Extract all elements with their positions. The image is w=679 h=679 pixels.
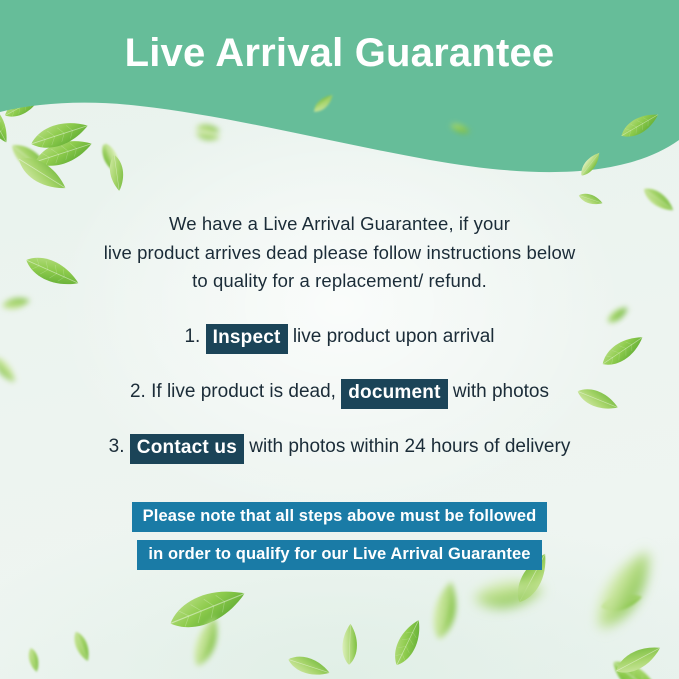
notice-banner: Please note that all steps above must be…	[0, 502, 679, 570]
step-1-number: 1.	[184, 326, 200, 347]
intro-line-2: live product arrives dead please follow …	[0, 239, 679, 268]
step-1-highlight: Inspect	[206, 324, 288, 354]
step-2-highlight: document	[341, 379, 447, 409]
intro-line-1: We have a Live Arrival Guarantee, if you…	[0, 210, 679, 239]
step-3-highlight: Contact us	[130, 434, 244, 464]
step-3-after: with photos within 24 hours of delivery	[249, 436, 570, 457]
step-3-number: 3.	[109, 436, 125, 457]
live-arrival-guarantee-poster: Live Arrival Guarantee	[0, 0, 679, 679]
intro-line-3: to quality for a replacement/ refund.	[0, 267, 679, 296]
step-1-after: live product upon arrival	[293, 326, 495, 347]
step-2-number: 2.	[130, 381, 146, 402]
steps-list: 1. Inspect live product upon arrival 2. …	[0, 320, 679, 464]
step-2-before: If live product is dead,	[151, 381, 336, 402]
intro-paragraph: We have a Live Arrival Guarantee, if you…	[0, 210, 679, 296]
step-item-3: 3. Contact us with photos within 24 hour…	[0, 430, 679, 464]
step-item-1: 1. Inspect live product upon arrival	[0, 320, 679, 354]
step-item-2: 2. If live product is dead, document wit…	[0, 375, 679, 409]
poster-content: We have a Live Arrival Guarantee, if you…	[0, 0, 679, 679]
notice-line-1: Please note that all steps above must be…	[132, 502, 548, 532]
step-2-after: with photos	[453, 381, 549, 402]
notice-line-2: in order to qualify for our Live Arrival…	[137, 540, 541, 570]
